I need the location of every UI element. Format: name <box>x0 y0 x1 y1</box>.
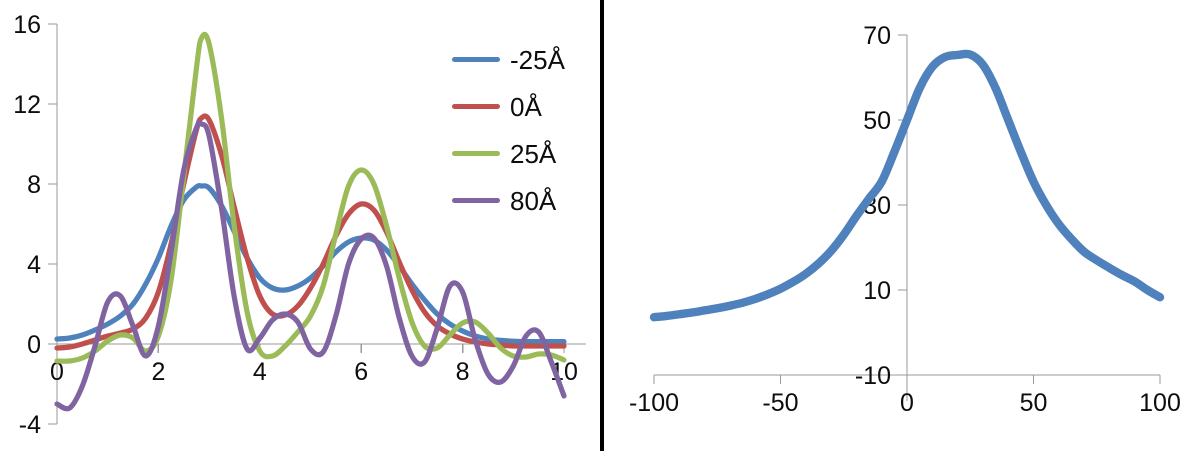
right-chart-plot: -1010305070-100-50050100 <box>604 0 1204 451</box>
legend-item-label: 0Å <box>510 94 542 120</box>
y-tick-label: -4 <box>19 411 41 439</box>
x-tick-label: 8 <box>456 358 470 386</box>
legend-item-label: 25Å <box>510 141 556 167</box>
y-tick-label: 4 <box>27 251 41 279</box>
legend-item[interactable]: 25Å <box>452 130 592 177</box>
y-tick-label: 50 <box>863 107 891 135</box>
legend-item-label: -25Å <box>510 47 565 73</box>
line-swatch-icon <box>452 57 500 62</box>
left-chart-panel: -404812160246810 -25Å 0Å 25Å 80Å <box>0 0 600 451</box>
x-tick-label: -50 <box>762 389 798 417</box>
line-swatch-icon <box>452 151 500 156</box>
legend-item[interactable]: 80Å <box>452 177 592 224</box>
x-tick-label: 100 <box>1139 389 1181 417</box>
screenshot-root: -404812160246810 -25Å 0Å 25Å 80Å -101030… <box>0 0 1204 451</box>
y-tick-label: 70 <box>863 22 891 50</box>
y-tick-label: 8 <box>27 171 41 199</box>
x-tick-label: -100 <box>629 389 679 417</box>
line-swatch-icon <box>452 104 500 109</box>
x-tick-label: 50 <box>1020 389 1048 417</box>
x-tick-label: 2 <box>151 358 165 386</box>
x-tick-label: 0 <box>900 389 914 417</box>
y-tick-label: 10 <box>863 277 891 305</box>
y-tick-label: -10 <box>855 362 891 390</box>
x-tick-label: 4 <box>253 358 267 386</box>
legend-item[interactable]: -25Å <box>452 36 592 83</box>
left-chart-legend: -25Å 0Å 25Å 80Å <box>452 36 592 224</box>
y-tick-label: 16 <box>13 11 41 39</box>
legend-item-label: 80Å <box>510 188 556 214</box>
y-tick-label: 0 <box>27 331 41 359</box>
y-tick-label: 12 <box>13 91 41 119</box>
line-swatch-icon <box>452 198 500 203</box>
legend-item[interactable]: 0Å <box>452 83 592 130</box>
x-tick-label: 6 <box>354 358 368 386</box>
right-chart-panel: -1010305070-100-50050100 <box>604 0 1204 451</box>
